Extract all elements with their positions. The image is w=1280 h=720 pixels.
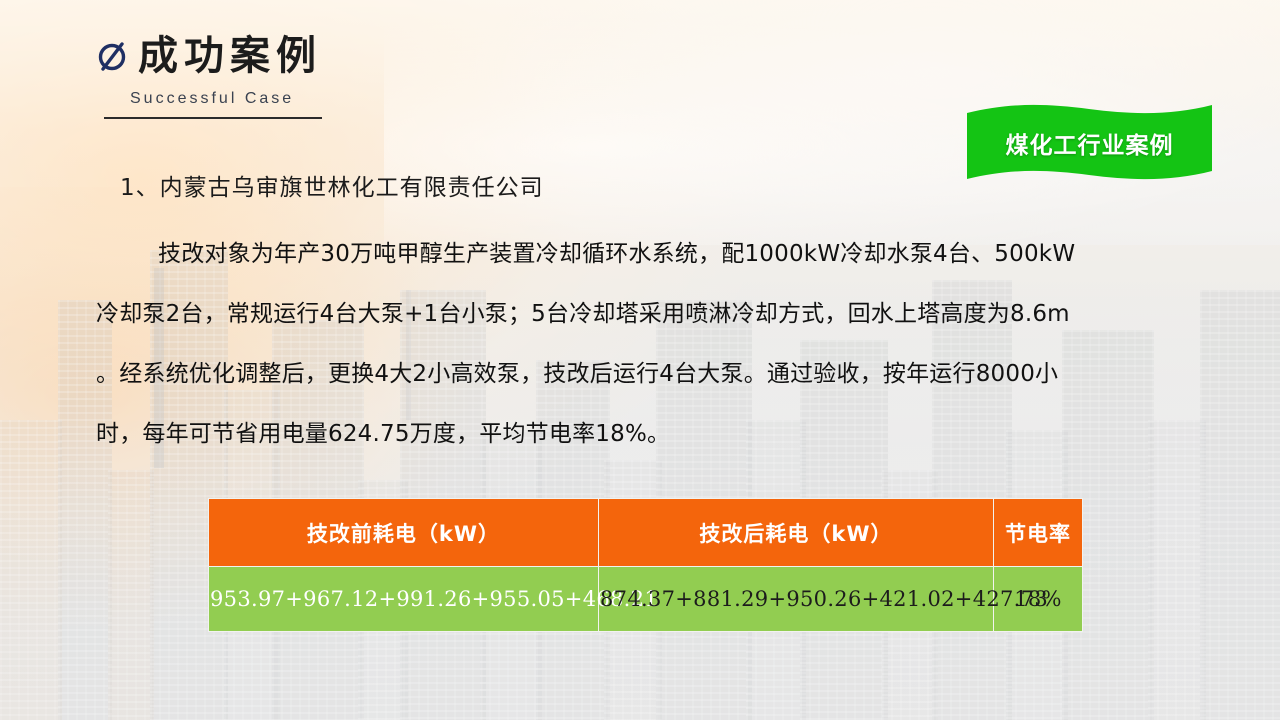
paragraph-line: 冷却泵2台，常规运行4台大泵+1台小泵；5台冷却塔采用喷淋冷却方式，回水上塔高度… xyxy=(96,284,1196,344)
table-row: 953.97+967.12+991.26+955.05+468.21 874.3… xyxy=(209,567,1083,632)
table-header-saving-rate: 节电率 xyxy=(994,499,1083,567)
table-header-before: 技改前耗电（kW） xyxy=(209,499,599,567)
table-cell-before-values: 953.97+967.12+991.26+955.05+468.21 xyxy=(209,567,599,632)
paragraph-line: 。经系统优化调整后，更换4大2小高效泵，技改后运行4台大泵。通过验收，按年运行8… xyxy=(96,344,1196,404)
title-divider xyxy=(104,117,322,119)
page-subtitle: Successful Case xyxy=(130,90,322,108)
case-company-title: 1、内蒙古乌审旗世林化工有限责任公司 xyxy=(96,172,1196,204)
table-header-after: 技改后耗电（kW） xyxy=(599,499,994,567)
table-cell-after-values: 874.37+881.29+950.26+421.02+427.73 xyxy=(599,567,994,632)
null-slash-icon xyxy=(96,39,130,73)
case-content: 1、内蒙古乌审旗世林化工有限责任公司 技改对象为年产30万吨甲醇生产装置冷却循环… xyxy=(96,172,1196,464)
page-title: 成功案例 xyxy=(138,36,322,76)
slide-canvas: 成功案例 Successful Case 煤化工行业案例 1、内蒙古乌审旗世林化… xyxy=(0,0,1280,720)
paragraph-line: 时，每年可节省用电量624.75万度，平均节电率18%。 xyxy=(96,404,1196,464)
case-paragraph: 技改对象为年产30万吨甲醇生产装置冷却循环水系统，配1000kW冷却水泵4台、5… xyxy=(96,224,1196,464)
table-header-row: 技改前耗电（kW） 技改后耗电（kW） 节电率 xyxy=(209,499,1083,567)
energy-comparison-table: 技改前耗电（kW） 技改后耗电（kW） 节电率 953.97+967.12+99… xyxy=(208,498,1082,632)
page-title-block: 成功案例 Successful Case xyxy=(96,36,322,119)
paragraph-line: 技改对象为年产30万吨甲醇生产装置冷却循环水系统，配1000kW冷却水泵4台、5… xyxy=(96,224,1196,284)
